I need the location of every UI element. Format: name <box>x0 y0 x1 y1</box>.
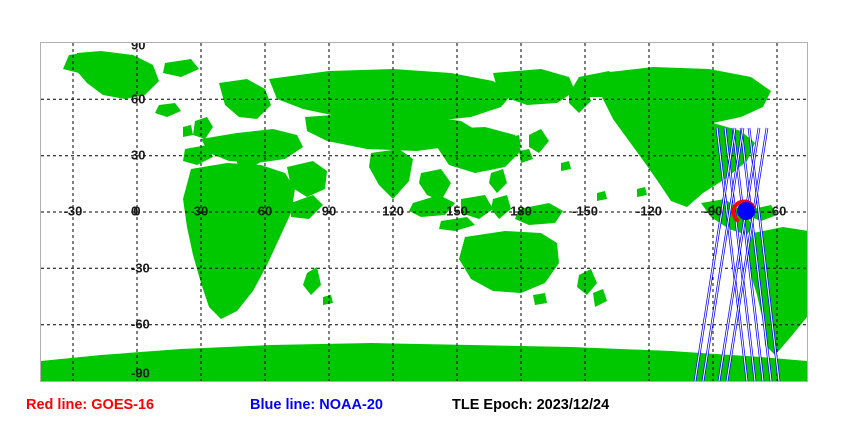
legend-noaa20-label: Blue line: <box>250 397 315 413</box>
lat-label-60: 60 <box>131 93 145 106</box>
lon-label-120: 120 <box>382 205 404 218</box>
legend-tle-epoch-label: TLE Epoch: <box>452 397 533 413</box>
lon-label-0: 0 <box>133 205 140 218</box>
lon-label-150: 150 <box>446 205 468 218</box>
lon-label-60: 60 <box>258 205 272 218</box>
legend-bar: Red line: GOES-16 Blue line: NOAA-20 TLE… <box>0 396 850 420</box>
legend-goes16-label: Red line: <box>26 397 87 413</box>
legend-tle-epoch-value: 2023/12/24 <box>537 397 610 413</box>
world-map-graphic <box>41 43 807 381</box>
lat-label-90: 90 <box>131 42 145 52</box>
lat-label-minus90: -90 <box>131 367 150 380</box>
lon-label-180: 180 <box>510 205 532 218</box>
lon-label-minus30: -30 <box>64 205 83 218</box>
legend-goes16-value: GOES-16 <box>91 397 154 413</box>
lat-label-minus60: -60 <box>131 318 150 331</box>
legend-tle-epoch: TLE Epoch: 2023/12/24 <box>452 398 609 413</box>
lon-label-minus60: -60 <box>768 205 787 218</box>
lon-label-30: 30 <box>194 205 208 218</box>
land-masses <box>41 51 807 381</box>
legend-noaa20-value: NOAA-20 <box>319 397 383 413</box>
lon-label-minus90: -90 <box>704 205 723 218</box>
satellite-ground-track-figure: 90 60 30 0 -30 -60 -90 -30 0 30 60 90 12… <box>0 0 850 425</box>
lat-label-30: 30 <box>131 149 145 162</box>
legend-goes16: Red line: GOES-16 <box>26 398 154 413</box>
lat-label-minus30: -30 <box>131 262 150 275</box>
lon-label-minus120: -120 <box>636 205 662 218</box>
lon-label-minus150: -150 <box>572 205 598 218</box>
world-map-panel: 90 60 30 0 -30 -60 -90 -30 0 30 60 90 12… <box>40 42 808 382</box>
noaa20-position-marker <box>737 202 755 220</box>
lon-label-90: 90 <box>322 205 336 218</box>
legend-noaa20: Blue line: NOAA-20 <box>250 398 383 413</box>
